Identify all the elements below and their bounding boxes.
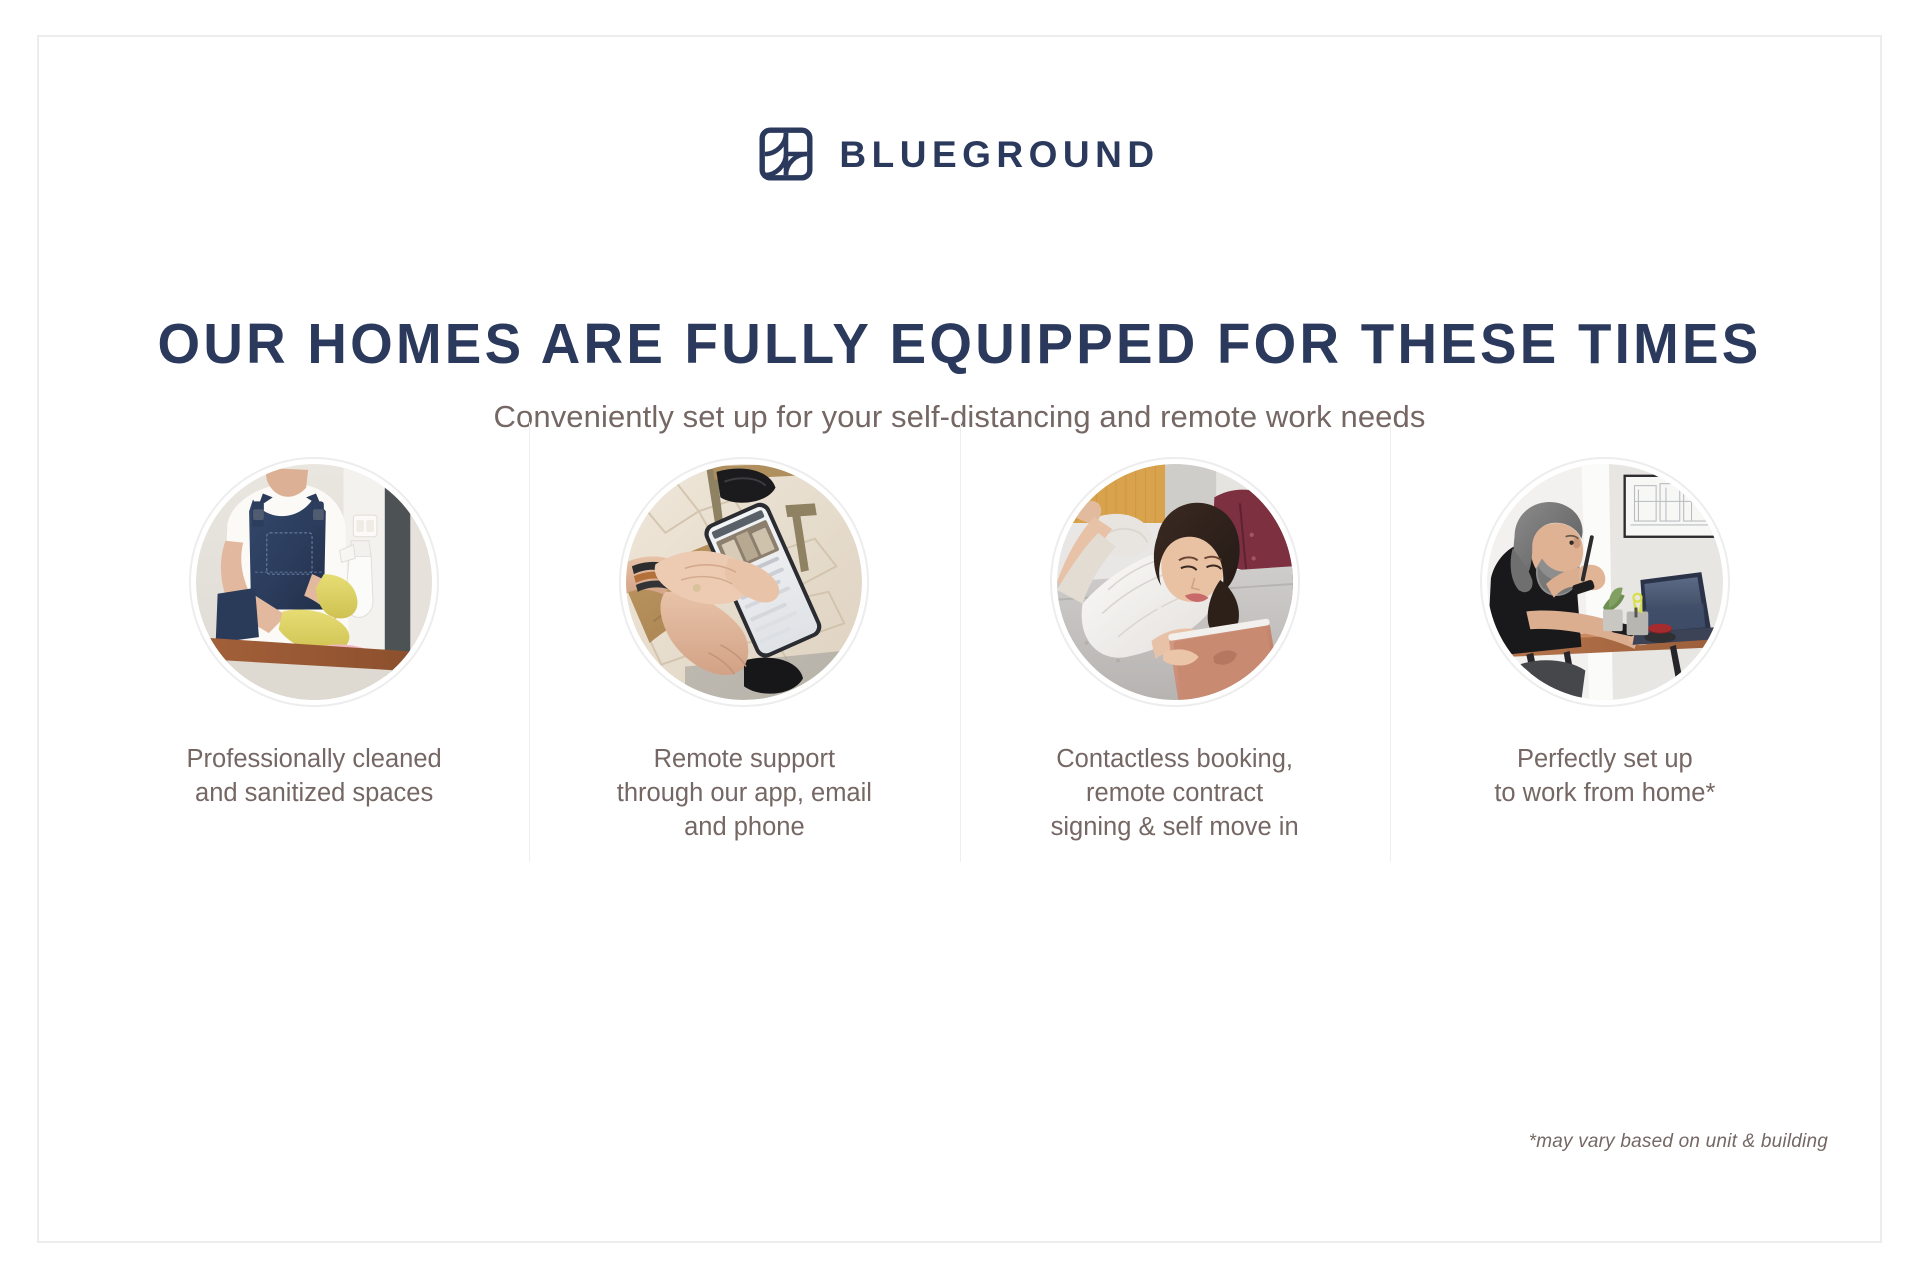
feature-image-ring (1050, 457, 1300, 707)
brand-lockup: BLUEGROUND (39, 127, 1880, 181)
feature-item-contactless-booking: Contactless booking, remote contract sig… (960, 422, 1390, 845)
man-working-at-desk-laptop-photo (1487, 464, 1723, 700)
cleaner-wiping-counter-photo (196, 464, 432, 700)
page-title: OUR HOMES ARE FULLY EQUIPPED FOR THESE T… (76, 315, 1843, 375)
feature-image-ring (1480, 457, 1730, 707)
feature-caption: Contactless booking, remote contract sig… (1051, 743, 1299, 845)
woman-on-bed-with-tablet-photo (1057, 464, 1293, 700)
feature-caption: Remote support through our app, email an… (617, 743, 872, 845)
feature-item-work-from-home: Perfectly set up to work from home* (1390, 422, 1820, 811)
hands-using-phone-app-photo (626, 464, 862, 700)
feature-caption: Perfectly set up to work from home* (1494, 743, 1715, 811)
feature-caption: Professionally cleaned and sanitized spa… (187, 743, 442, 811)
feature-image-ring (189, 457, 439, 707)
footnote-disclaimer: *may vary based on unit & building (1529, 1131, 1828, 1153)
blueground-square-mark-icon (759, 127, 813, 181)
feature-item-cleaning: Professionally cleaned and sanitized spa… (99, 422, 529, 811)
feature-list: Professionally cleaned and sanitized spa… (99, 422, 1820, 862)
poster-frame: BLUEGROUND OUR HOMES ARE FULLY EQUIPPED … (37, 35, 1882, 1243)
brand-wordmark: BLUEGROUND (839, 136, 1159, 173)
feature-image-ring (619, 457, 869, 707)
feature-item-remote-support: Remote support through our app, email an… (529, 422, 959, 845)
